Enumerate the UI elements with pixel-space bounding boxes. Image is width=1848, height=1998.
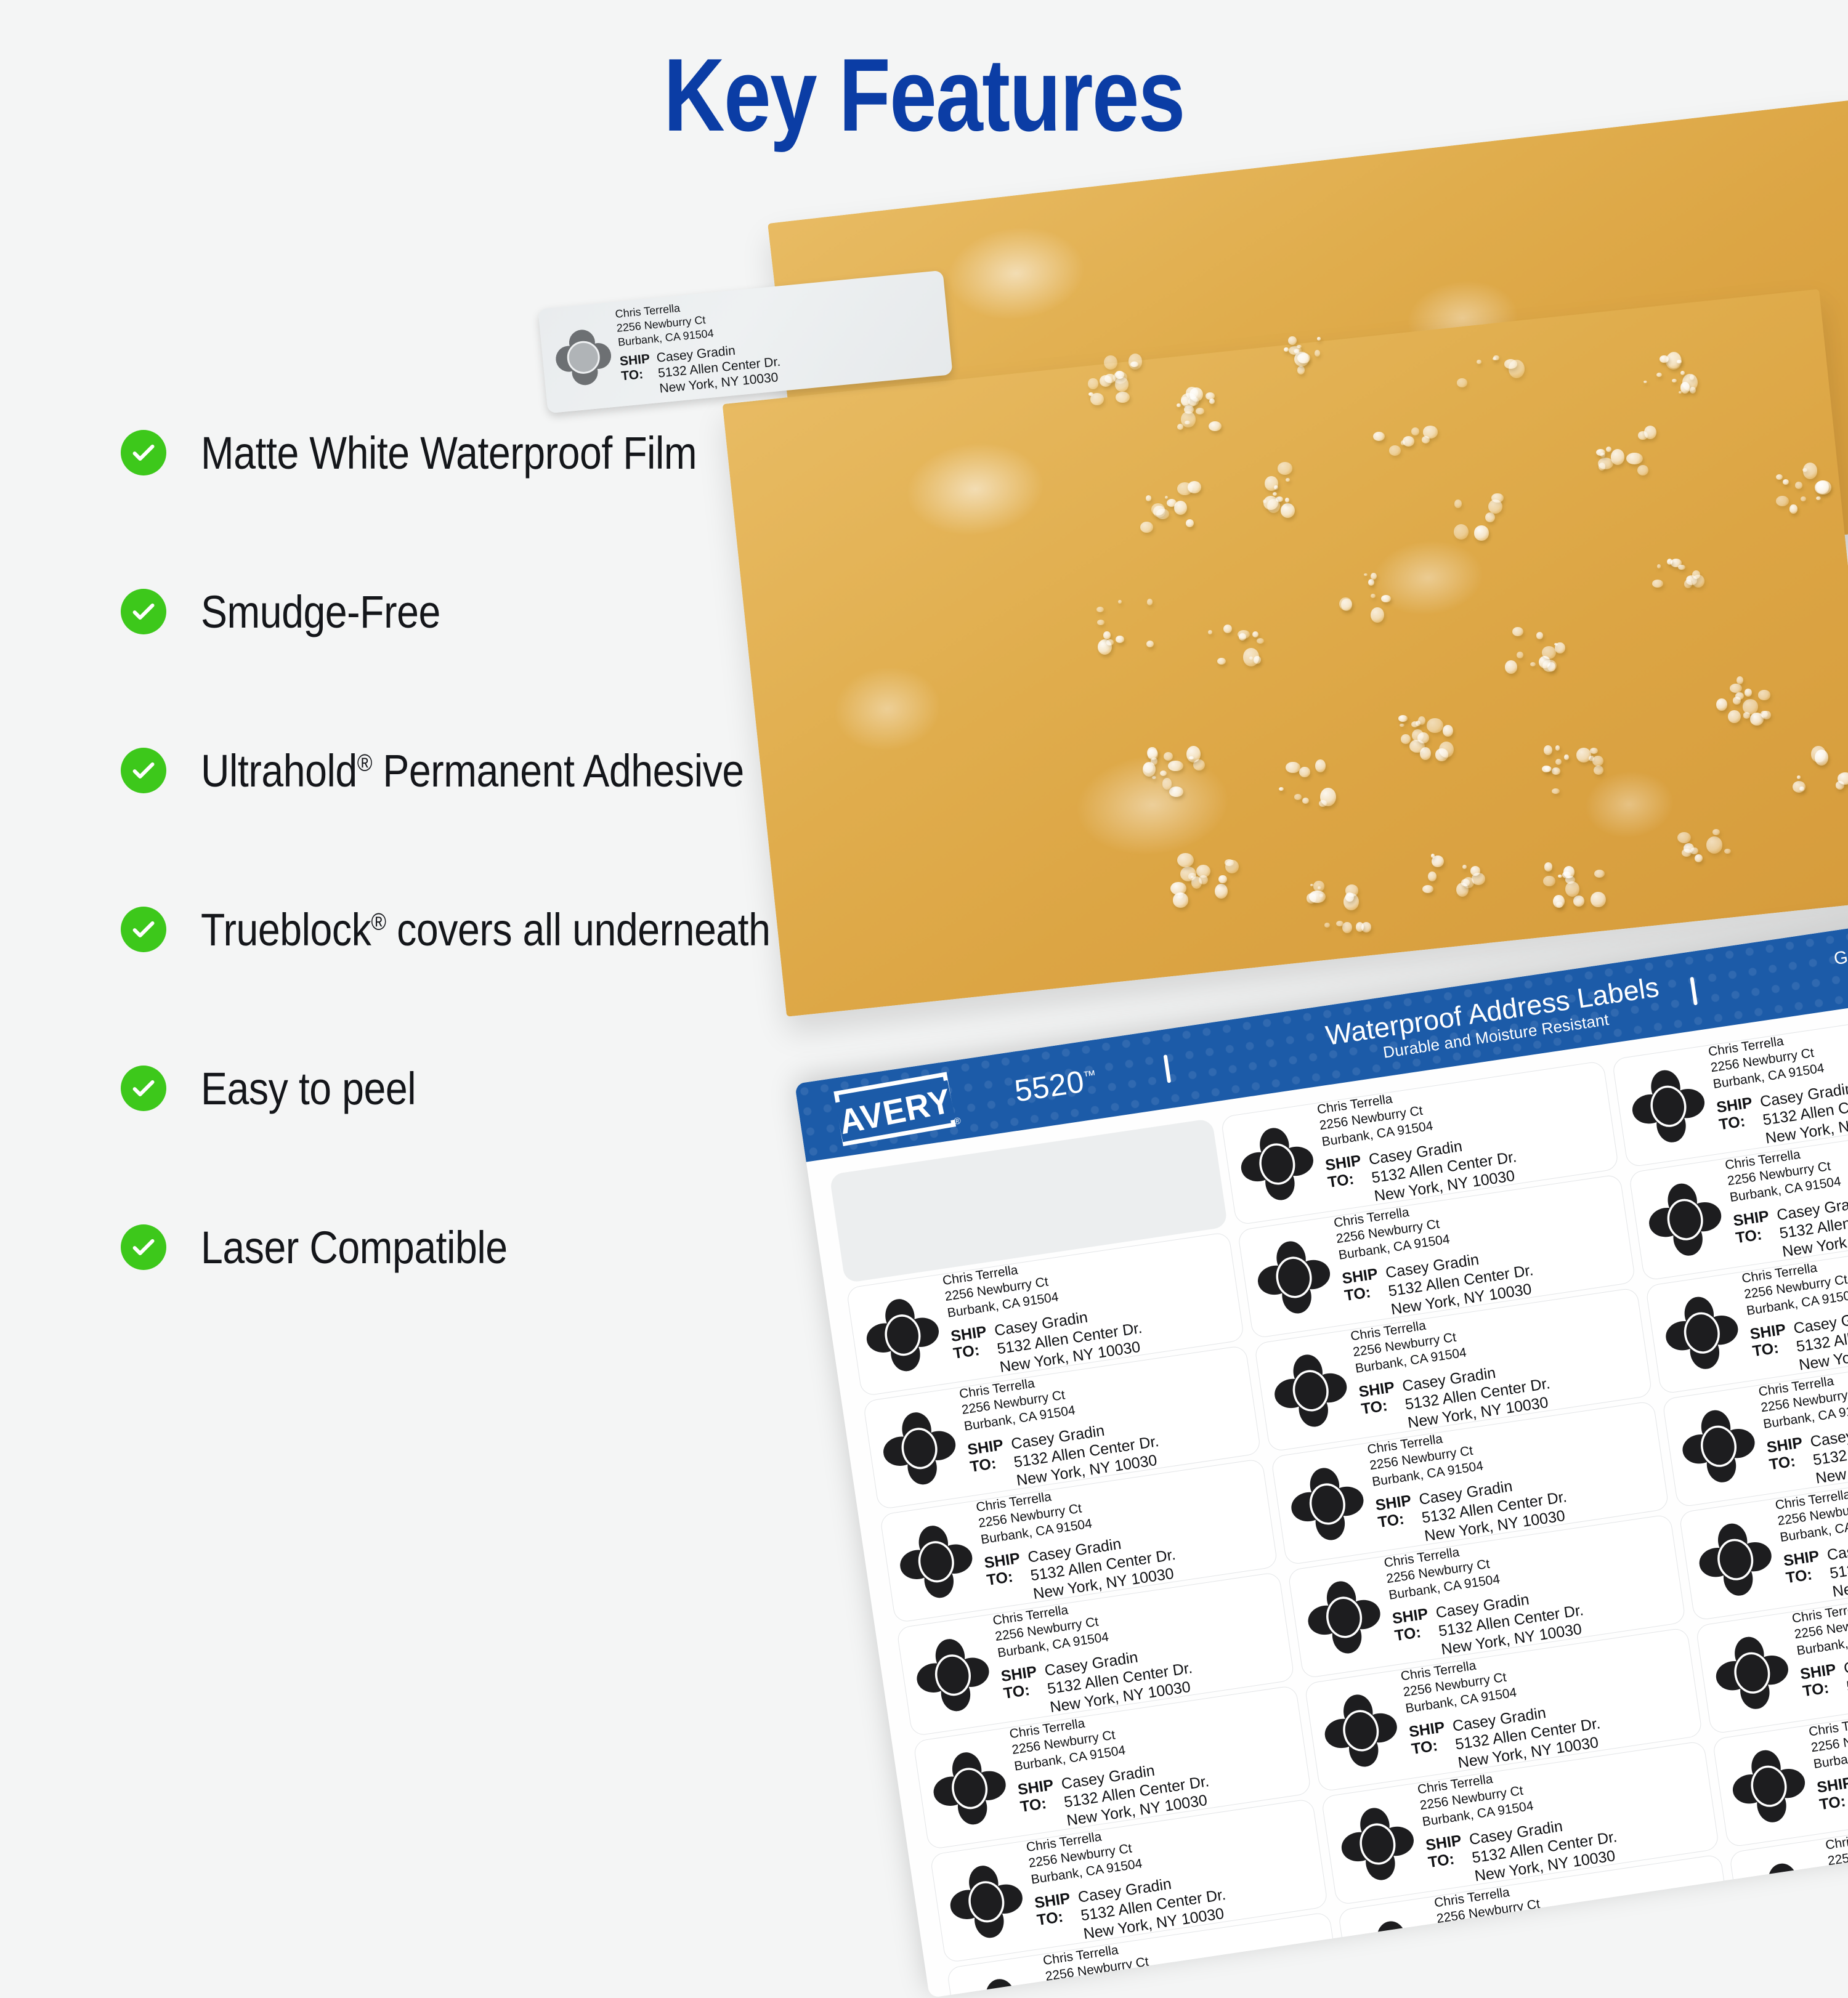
label-to-word: TO: [1444,1962,1482,1984]
feature-label: Matte White Waterproof Film [201,427,697,479]
feature-item-trueblock-covers-all-underneath: Trueblock® covers all underneath [121,896,1082,963]
label-to-name: Casey Gradin [1093,1980,1241,1998]
trademark-mark: ™ [1082,1068,1098,1084]
flower-logo-icon [928,1747,1011,1830]
feature-list: Matte White Waterproof Film Smudge-Free … [121,419,1082,1372]
banner-divider [1163,1054,1171,1083]
label-to-name: Casey Gradin [1485,1922,1632,1962]
label-to-city: New York, NY 10030 [1490,1959,1637,1998]
feature-label: Easy to peel [201,1062,416,1115]
flower-logo-icon [1353,1916,1436,1998]
feature-item-ultrahold-permanent-adhesive: Ultrahold® Permanent Adhesive [121,737,1082,804]
flower-logo-icon [912,1634,994,1717]
sheet-cta-line-1: Go to avery. [1833,934,1848,970]
flower-logo-icon [1728,1745,1810,1827]
label-to-street: 5132 Allen Center Dr. [1488,1941,1635,1980]
flower-logo-icon [1270,1349,1352,1432]
flower-logo-icon [1745,1858,1827,1941]
registered-mark: ® [371,908,386,935]
check-circle-icon [121,748,166,793]
flower-logo-icon [1661,1292,1743,1374]
label-ship-word: SHIP [1833,1887,1848,1909]
flower-logo-icon [1286,1463,1369,1545]
flower-logo-icon [1677,1405,1760,1487]
flower-logo-icon [550,324,617,391]
flower-logo-icon [1694,1518,1777,1601]
flower-logo-icon [1627,1065,1710,1147]
flower-logo-icon [1253,1236,1335,1319]
flower-logo-icon [878,1407,961,1490]
flower-logo-icon [1644,1178,1727,1261]
flower-logo-icon [1236,1123,1318,1205]
registered-mark: ® [357,750,372,776]
feature-label-main: Ultrahold [201,745,357,796]
feature-item-smudge-free: Smudge-Free [121,578,1082,645]
flower-logo-icon [1336,1803,1419,1885]
flower-logo-icon [1319,1689,1402,1772]
check-circle-icon [121,430,166,475]
flower-logo-icon [895,1521,978,1603]
sheet-cta-block: Go to avery. Use Avery [1833,934,1848,992]
feature-label: Trueblock® covers all underneath [201,904,771,956]
feature-item-laser-compatible: Laser Compatible [121,1213,1082,1281]
feature-label: Laser Compatible [201,1221,508,1274]
check-circle-icon [121,907,166,952]
flower-logo-icon [1303,1576,1385,1659]
check-circle-icon [121,1066,166,1111]
check-circle-icon [121,589,166,634]
page-title: Key Features [166,36,1682,155]
label-to-word: TO: [620,366,652,384]
feature-item-matte-white-waterproof-film: Matte White Waterproof Film [121,419,1082,487]
feature-label: Smudge-Free [201,586,440,638]
label-to-word: TO: [1835,1904,1848,1927]
feature-item-easy-to-peel: Easy to peel [121,1054,1082,1122]
feature-label-tail: Permanent Adhesive [372,745,744,796]
feature-label-main: Trueblock [201,904,371,955]
label-ship-word: SHIP [619,352,650,369]
check-circle-icon [121,1224,166,1270]
label-ship-word: SHIP [1441,1945,1480,1967]
flower-logo-icon [962,1974,1044,1998]
feature-label: Ultrahold® Permanent Adhesive [201,745,744,797]
feature-label-tail: covers all underneath [386,904,771,955]
banner-divider [1690,977,1698,1005]
flower-logo-icon [945,1861,1027,1943]
flower-logo-icon [1711,1632,1793,1714]
